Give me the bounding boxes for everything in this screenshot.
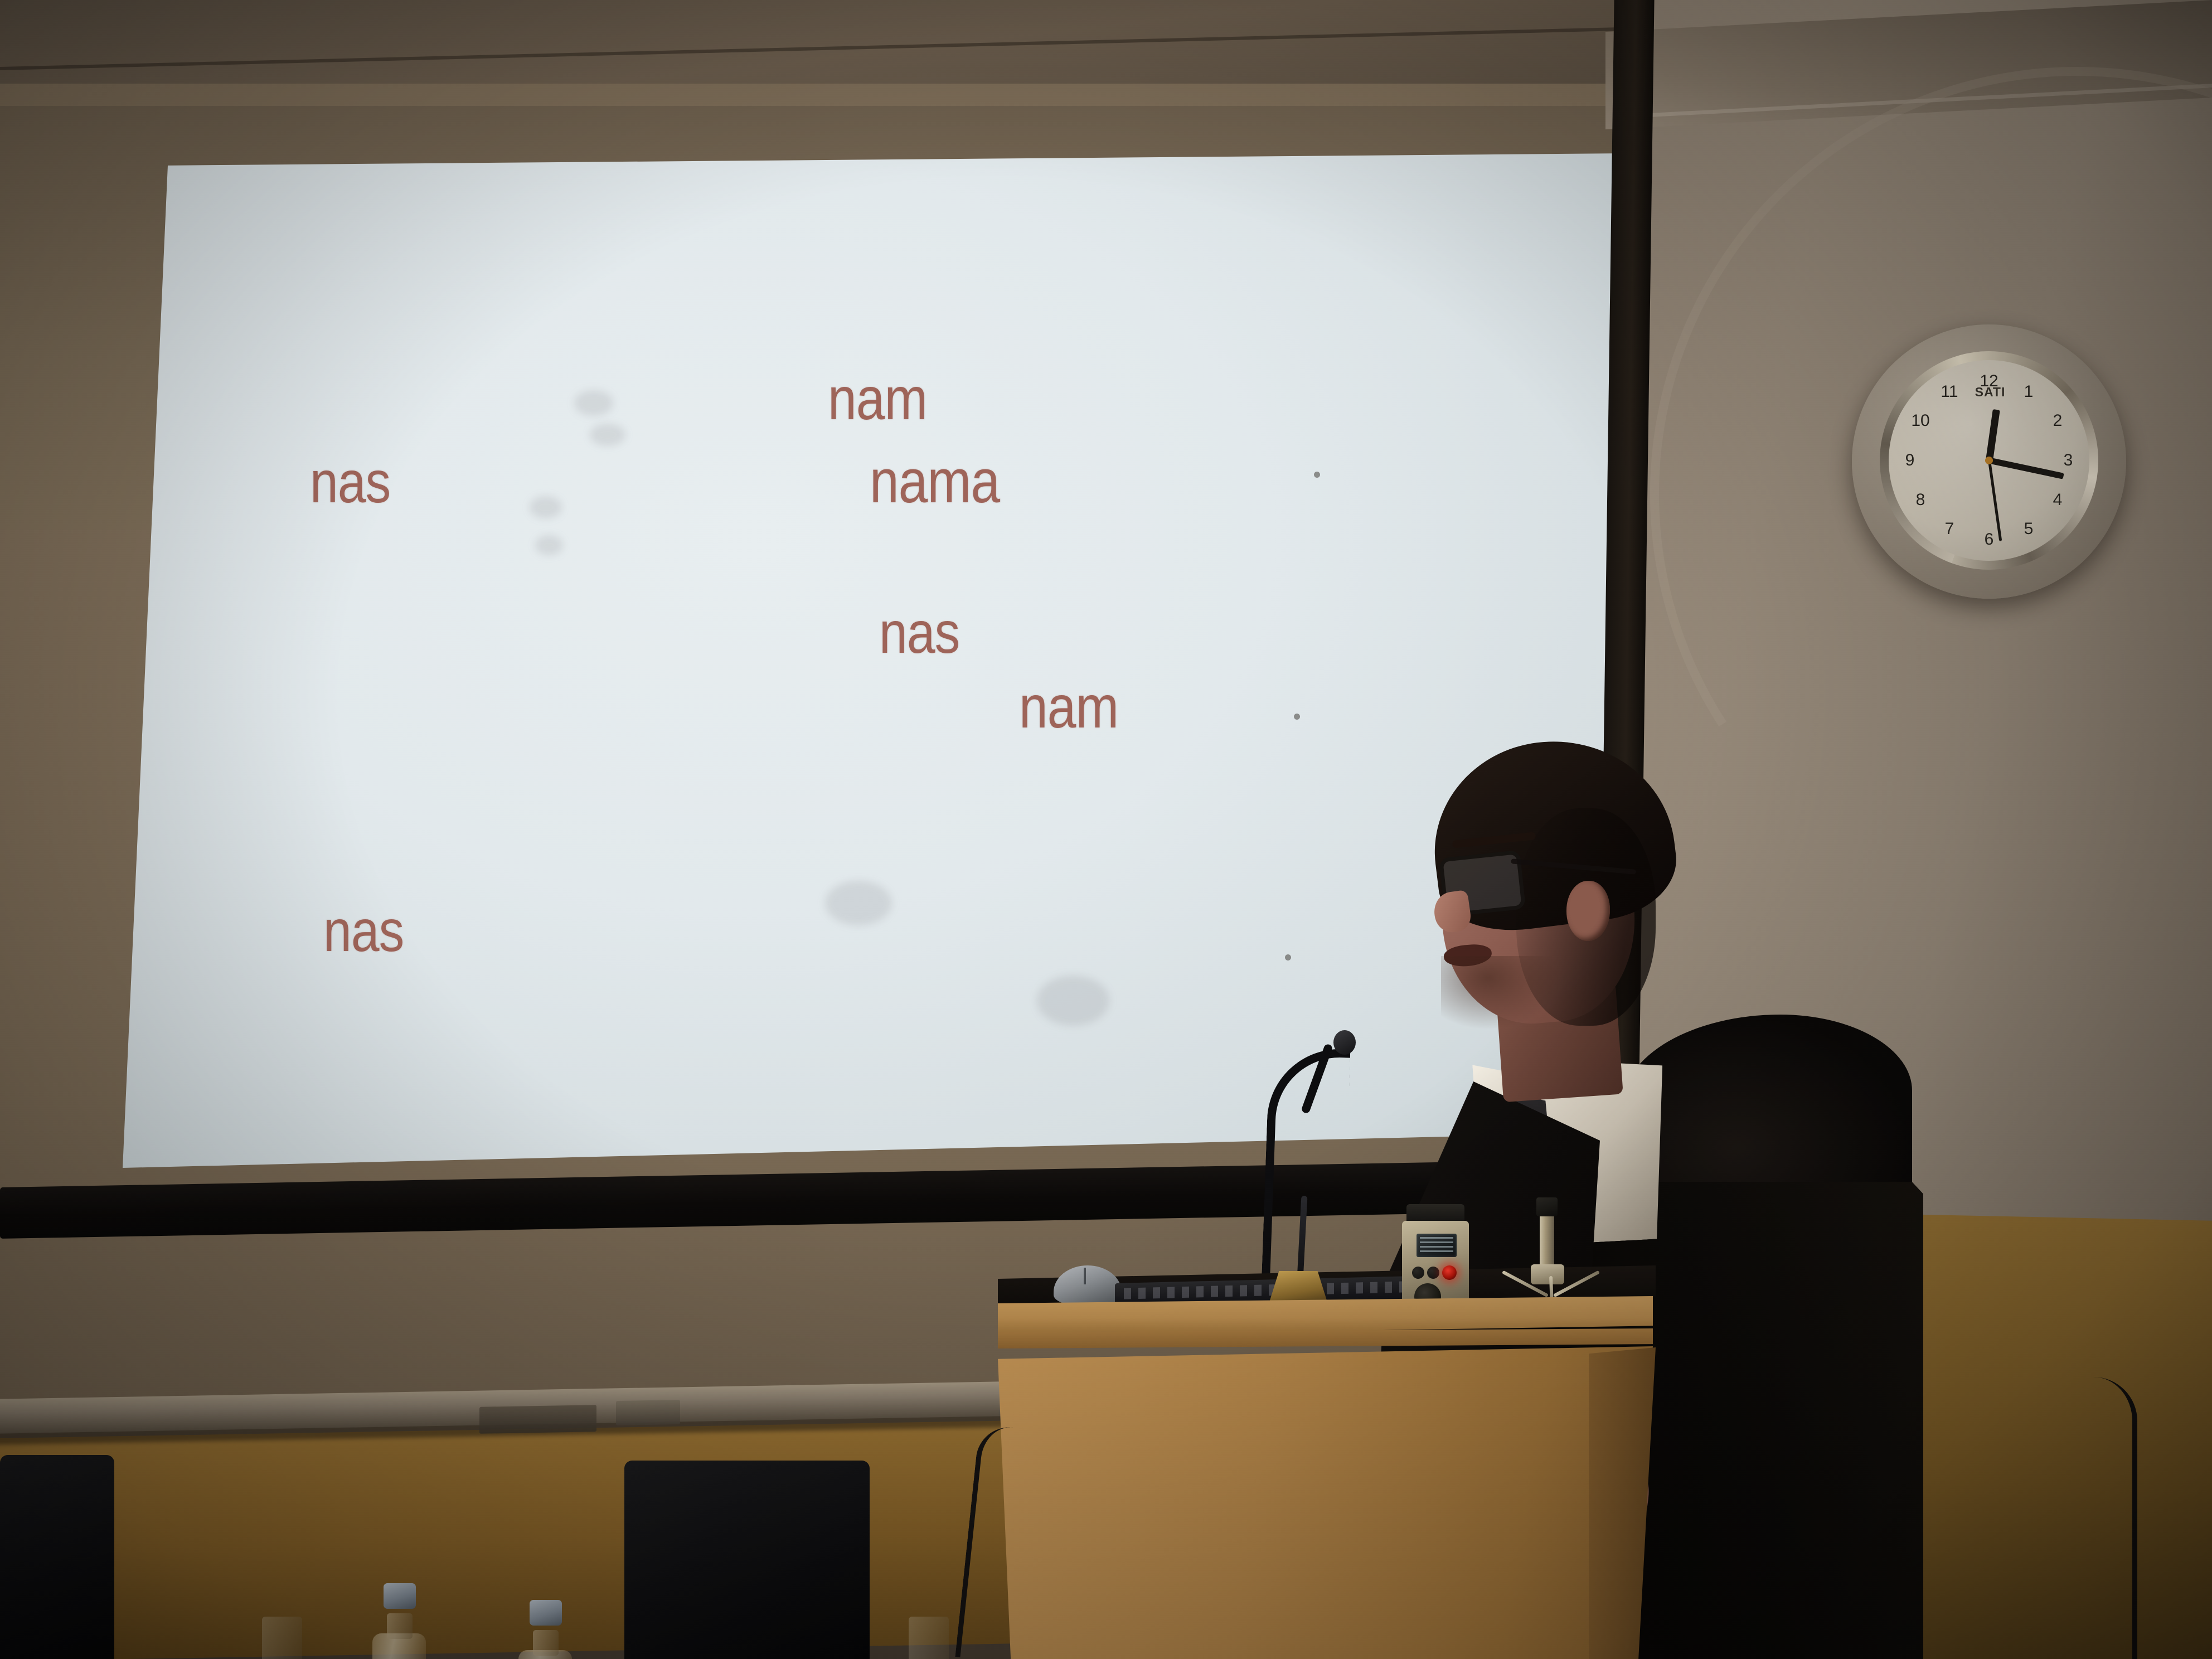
jacket-shoulder	[1622, 1015, 1912, 1182]
bottle-neck	[387, 1613, 413, 1639]
ear	[1566, 881, 1610, 941]
lectern-side-face	[1589, 1347, 1656, 1659]
bottle-neck	[533, 1630, 559, 1656]
screen-smudge	[574, 390, 613, 416]
clock-center-pin	[1985, 457, 1993, 464]
screen-smudge	[535, 535, 563, 555]
clock-numeral: 10	[1908, 413, 1933, 429]
chin-shadow	[1441, 956, 1558, 1029]
clock-numeral: 8	[1908, 492, 1933, 508]
recorder-button-left[interactable]	[1412, 1267, 1424, 1279]
clock-numeral: 2	[2045, 413, 2070, 429]
clock-brand-label: SATI	[1954, 385, 2026, 400]
clock-numeral: 7	[1937, 521, 1962, 537]
recorder-display-readout	[1420, 1237, 1453, 1254]
record-button[interactable]	[1442, 1265, 1457, 1280]
clock-numeral: 9	[1898, 452, 1922, 469]
lectern-front-face	[998, 1346, 1653, 1659]
chair	[0, 1455, 114, 1659]
screen-speck	[1314, 472, 1320, 478]
slide-word: nama	[870, 446, 1000, 517]
clock-numeral: 4	[2045, 492, 2070, 508]
microphone-tripod-cap	[1536, 1197, 1558, 1216]
screen-speck	[1285, 954, 1291, 961]
clock-numeral: 5	[2016, 521, 2041, 537]
slide-word: nam	[1019, 672, 1118, 741]
clock-numeral: 6	[1977, 531, 2001, 548]
chair	[624, 1461, 870, 1659]
slide-word: nas	[323, 898, 404, 965]
screen-smudge	[530, 496, 562, 518]
rail-clip	[479, 1405, 596, 1434]
rail-clip-secondary	[616, 1400, 680, 1425]
bottle-cap	[384, 1583, 416, 1609]
drinking-glass	[262, 1617, 302, 1659]
microphone-capsule	[1333, 1030, 1356, 1055]
screen-smudge	[590, 424, 625, 446]
tripod-hub	[1531, 1264, 1564, 1284]
bottle-cap	[530, 1600, 562, 1626]
slide-word: nam	[828, 363, 927, 433]
clock-numeral: 3	[2056, 452, 2080, 469]
screen-smudge	[825, 881, 892, 925]
screen-smudge	[1037, 976, 1109, 1026]
lecture-hall-photo: namnasnamanasnamnas 121234567891011 SATI	[0, 0, 2212, 1659]
drinking-glass	[909, 1617, 949, 1659]
mouse-button-split	[1084, 1268, 1086, 1284]
recorder-button-mid[interactable]	[1427, 1267, 1439, 1279]
screen-speck	[1294, 714, 1300, 720]
slide-word: nas	[310, 449, 390, 516]
wall-cable	[2093, 1377, 2137, 1659]
slide-word: nas	[879, 599, 959, 667]
lectern	[998, 1296, 1653, 1659]
